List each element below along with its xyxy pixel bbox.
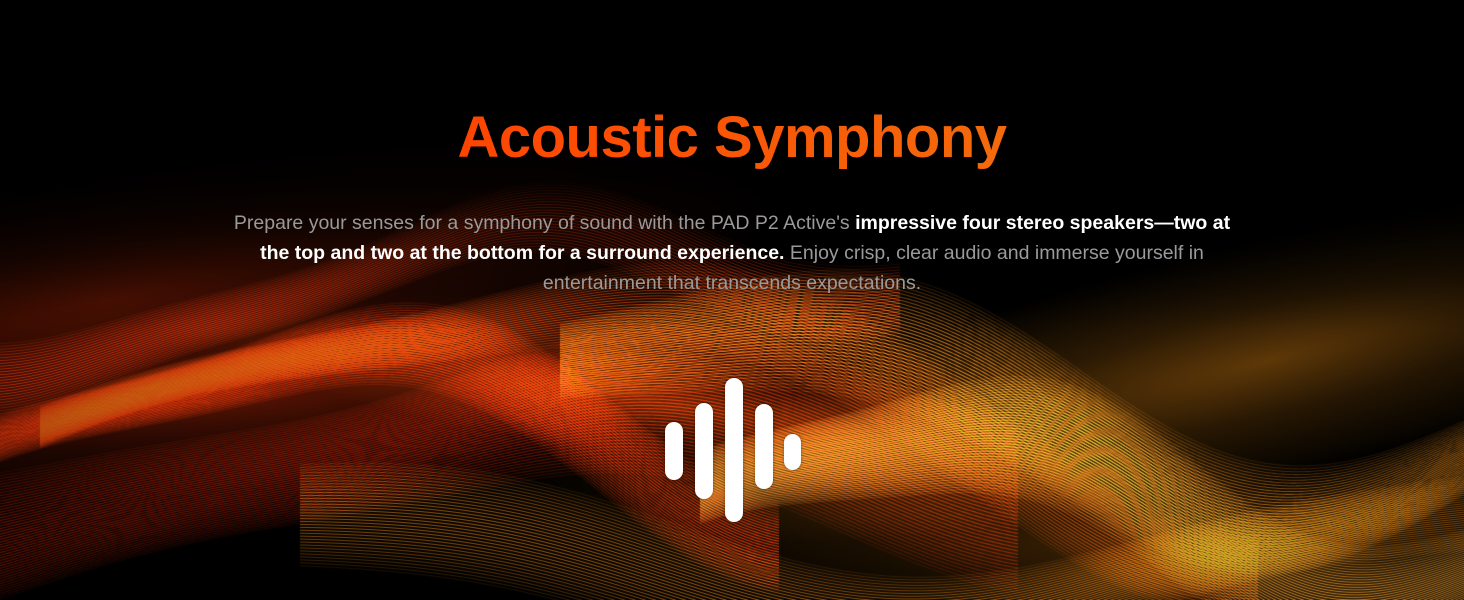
background-wave-artwork bbox=[0, 0, 1464, 600]
acoustic-symphony-hero-banner: Acoustic Symphony Prepare your senses fo… bbox=[0, 0, 1464, 600]
